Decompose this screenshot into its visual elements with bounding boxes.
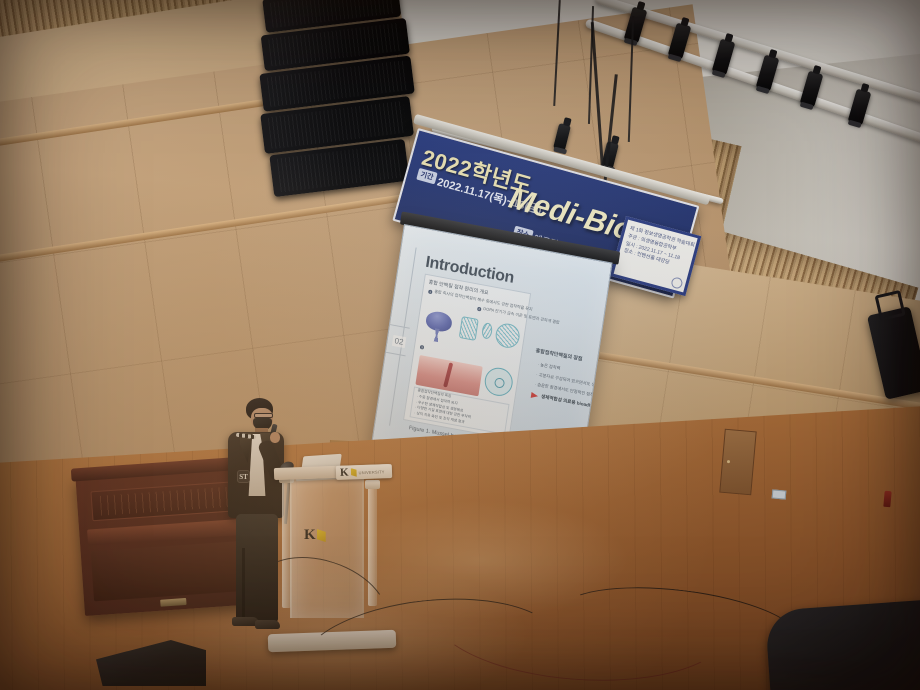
lectern-logo: K [304, 528, 326, 543]
slide-right-heading: 홍합접착단백질의 장점 [535, 347, 583, 363]
trouser-leg-separation [242, 548, 245, 618]
wall-outlet-plate [772, 489, 787, 499]
university-logo-letter: K [340, 467, 349, 478]
stage-door[interactable] [719, 429, 756, 496]
auditorium-photo: 2022학년도 기간 2022.11.17(목)~18(금) Medi-Bio … [0, 0, 920, 690]
nameplate-text: UNIVERSITY [358, 469, 384, 475]
figure-bullet-marker: 2 [477, 307, 482, 312]
wound-illustration [443, 363, 453, 388]
slide-divider-tick [386, 352, 406, 357]
molecule-structure-icon [494, 322, 521, 350]
molecule-structure-icon [459, 316, 479, 341]
cell-illustration [483, 365, 515, 398]
slide-page-number: 02 [392, 335, 406, 348]
fire-extinguisher-icon [883, 491, 891, 508]
stage-monitor-speaker [765, 597, 920, 690]
slide-divider-tick [390, 324, 410, 329]
jacket-sleeve-patch: ST [237, 470, 250, 483]
piano-fretwork [100, 487, 233, 516]
presenter-hand [270, 432, 280, 443]
figure-bullet-marker: 1 [428, 290, 433, 295]
lectern-nameplate: K UNIVERSITY [336, 464, 392, 480]
university-logo-letter: K [304, 528, 316, 543]
slide-right-bullet: · 높은 접착력 [537, 362, 561, 372]
figure-bullet-marker: 3 [420, 345, 425, 350]
university-logo-mark-icon [350, 468, 356, 477]
notice-seal-icon [670, 276, 683, 289]
slide-figure: 홍합 단백질 접착 원리의 개요 1 홍합 족사의 접착단백질이 해수 중에서도… [403, 274, 531, 440]
university-logo-mark-icon [317, 529, 326, 542]
cell-nucleus [494, 377, 505, 389]
lectern-column-cap [365, 480, 380, 489]
arrow-right-icon [531, 392, 539, 399]
molecule-structure-icon [481, 322, 493, 340]
door-knob-icon [727, 460, 730, 463]
